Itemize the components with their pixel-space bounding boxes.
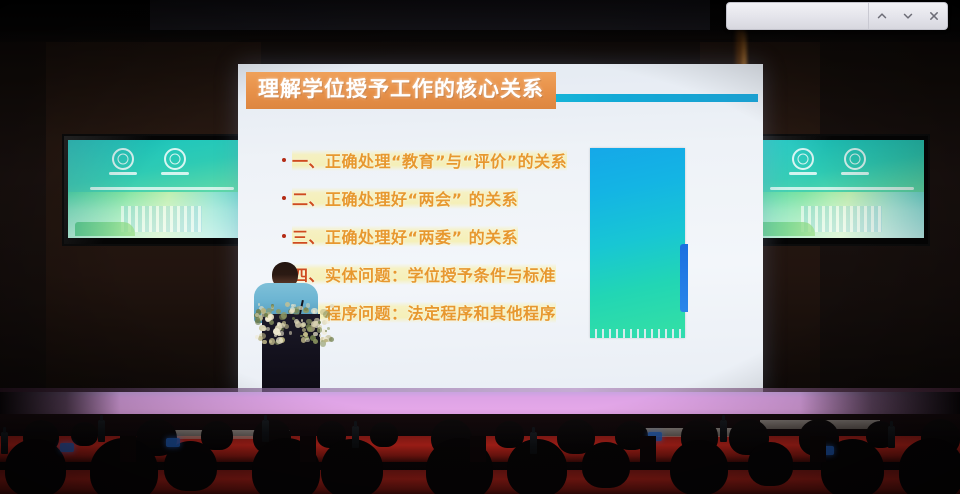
side-screen-right bbox=[742, 134, 930, 246]
flower-blossom bbox=[255, 319, 261, 325]
bullet-label: 一、正确处理“教育”与“评价”的关系 bbox=[292, 148, 567, 172]
bullet-body: 实体问题：学位授予条件与标准 bbox=[325, 266, 556, 285]
audience-head bbox=[5, 439, 65, 494]
flower-blossom bbox=[325, 319, 330, 324]
close-icon[interactable] bbox=[921, 3, 947, 29]
bullet-dot-icon bbox=[282, 158, 286, 162]
water-bottle bbox=[262, 420, 269, 442]
side-screen-left bbox=[62, 134, 250, 246]
chevron-down-icon[interactable] bbox=[895, 3, 921, 29]
flower-blossom bbox=[289, 331, 292, 334]
bullet-item: 一、正确处理“教育”与“评价”的关系 bbox=[282, 148, 612, 172]
flower-blossom bbox=[318, 321, 321, 324]
slide-image-tab bbox=[680, 244, 688, 312]
bullet-item: 三、正确处理好“两委” 的关系 bbox=[282, 224, 612, 248]
flower-blossom bbox=[285, 302, 290, 307]
window-title bbox=[727, 3, 868, 29]
bullet-body: 程序问题：法定程序和其他程序 bbox=[325, 304, 556, 323]
flower-blossom bbox=[281, 312, 287, 318]
flower-blossom bbox=[258, 303, 261, 306]
audience-head bbox=[748, 442, 794, 485]
emblem-underline bbox=[109, 172, 137, 175]
bullet-body: 正确处理“教育”与“评价”的关系 bbox=[325, 152, 567, 171]
flower-blossom bbox=[306, 303, 310, 307]
flower-blossom bbox=[319, 334, 322, 337]
side-screen-left-content bbox=[68, 140, 244, 238]
audience-head bbox=[164, 441, 217, 491]
audience-head bbox=[370, 422, 397, 447]
flower-blossom bbox=[327, 327, 330, 330]
flower-arrangement bbox=[250, 300, 334, 344]
emblem-icon bbox=[112, 148, 134, 170]
flower-blossom bbox=[323, 311, 330, 318]
flower-blossom bbox=[266, 327, 270, 331]
title-accent-rule bbox=[532, 94, 758, 102]
bullet-number: 一、 bbox=[292, 152, 325, 171]
flower-blossom bbox=[279, 331, 283, 335]
emblem-icon bbox=[164, 148, 186, 170]
flower-blossom bbox=[330, 304, 334, 308]
bullet-dot-icon bbox=[282, 234, 286, 238]
flower-blossom bbox=[305, 338, 309, 342]
bullet-number: 二、 bbox=[292, 190, 325, 209]
flower-blossom bbox=[297, 306, 300, 309]
flower-blossom bbox=[271, 305, 274, 308]
audience-head bbox=[71, 422, 98, 447]
bullet-item: 四、实体问题：学位授予条件与标准 bbox=[282, 262, 612, 286]
flower-blossom bbox=[266, 308, 272, 314]
banner-text-line bbox=[90, 187, 234, 190]
bullet-dot-icon bbox=[282, 196, 286, 200]
bullet-item: 二、正确处理好“两会” 的关系 bbox=[282, 186, 612, 210]
emblem-underline bbox=[789, 172, 817, 175]
seat-gap bbox=[640, 436, 656, 462]
campus-illustration bbox=[748, 192, 924, 238]
bullet-label: 二、正确处理好“两会” 的关系 bbox=[292, 186, 518, 210]
flower-blossom bbox=[311, 308, 317, 314]
flower-blossom bbox=[313, 339, 318, 344]
seat-gap bbox=[470, 436, 486, 462]
slide-image-placeholder bbox=[590, 148, 685, 338]
water-bottle bbox=[888, 426, 895, 448]
flower-blossom bbox=[268, 314, 273, 319]
flower-blossom bbox=[290, 307, 296, 313]
flower-blossom bbox=[324, 339, 327, 342]
banner-text-line bbox=[770, 187, 914, 190]
bullet-label: 四、实体问题：学位授予条件与标准 bbox=[292, 262, 556, 286]
ceiling-beam bbox=[150, 0, 710, 30]
phone-screen-glow bbox=[166, 438, 180, 447]
water-bottle bbox=[1, 432, 8, 454]
campus-illustration bbox=[68, 192, 244, 238]
water-bottle bbox=[720, 420, 727, 442]
audience-head bbox=[899, 438, 960, 494]
phone-screen-glow bbox=[60, 443, 74, 452]
emblem-underline bbox=[161, 172, 189, 175]
water-bottle bbox=[352, 426, 359, 448]
bullet-number: 三、 bbox=[292, 228, 325, 247]
emblem-underline bbox=[841, 172, 869, 175]
flower-blossom bbox=[255, 335, 259, 339]
flower-blossom bbox=[329, 337, 334, 342]
screenshot-root: 理解学位授予工作的核心关系 一、正确处理“教育”与“评价”的关系 二、正确处理好… bbox=[0, 0, 960, 494]
flower-blossom bbox=[262, 340, 266, 344]
bullet-body: 正确处理好“两会” 的关系 bbox=[325, 190, 518, 209]
floating-window-toolbar[interactable] bbox=[726, 2, 948, 30]
seat-gap bbox=[120, 436, 136, 462]
chevron-up-icon[interactable] bbox=[869, 3, 895, 29]
bullet-body: 正确处理好“两委” 的关系 bbox=[325, 228, 518, 247]
water-bottle bbox=[530, 432, 537, 454]
audience-head bbox=[670, 440, 728, 494]
flower-blossom bbox=[276, 337, 283, 344]
emblem-icon bbox=[792, 148, 814, 170]
water-bottle bbox=[98, 420, 105, 442]
emblem-icon bbox=[844, 148, 866, 170]
seat-gap bbox=[810, 436, 826, 462]
audience-head bbox=[582, 442, 631, 488]
side-screen-right-content bbox=[748, 140, 924, 238]
window-button-group bbox=[868, 3, 947, 29]
seat-gap bbox=[300, 436, 316, 462]
flower-blossom bbox=[281, 328, 284, 331]
slide-title: 理解学位授予工作的核心关系 bbox=[246, 72, 556, 109]
bullet-label: 三、正确处理好“两委” 的关系 bbox=[292, 224, 518, 248]
